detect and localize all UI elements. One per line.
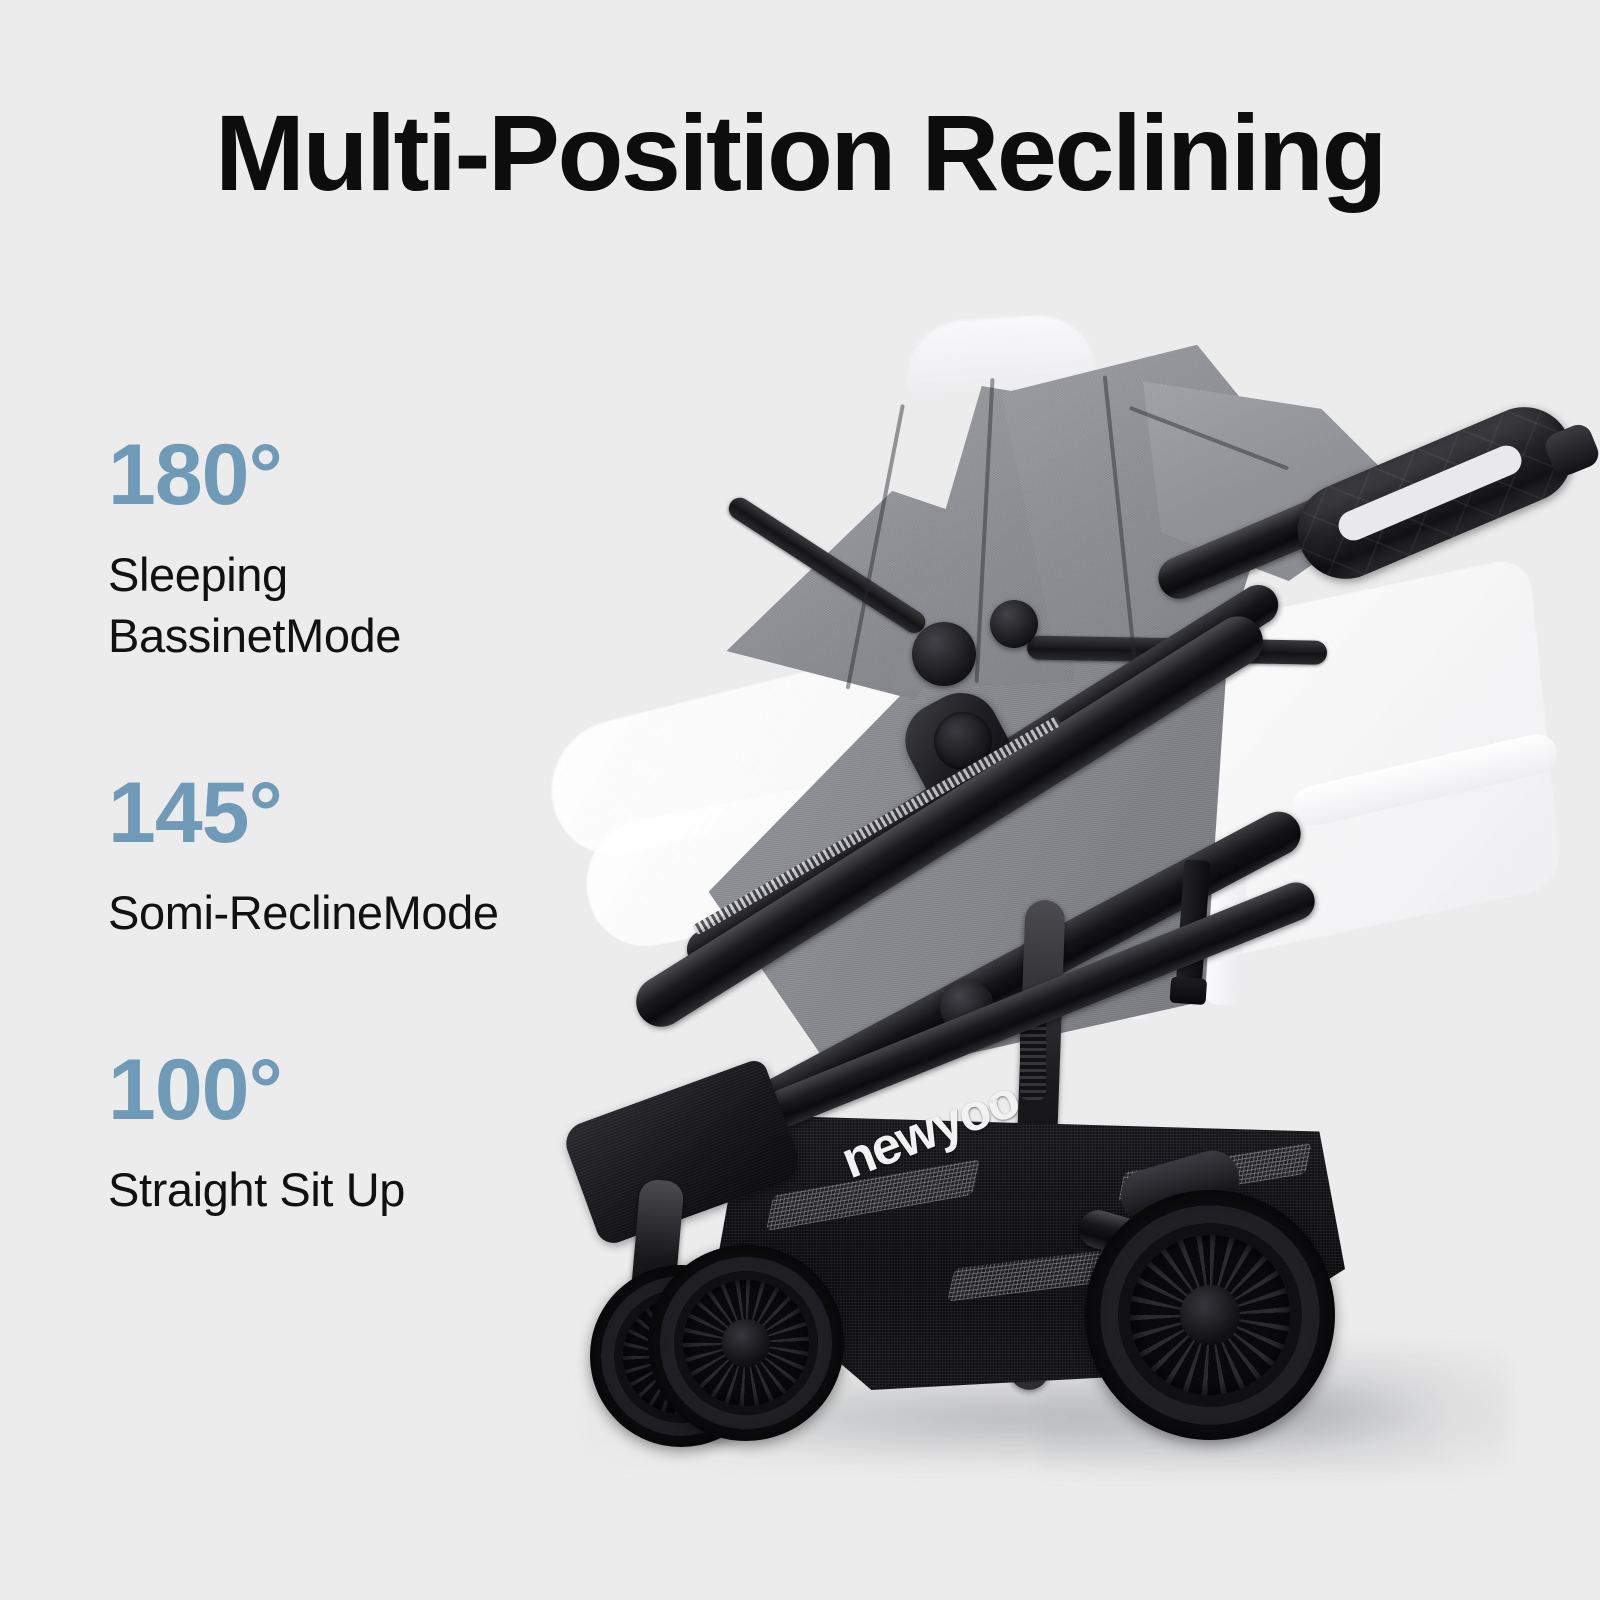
tire-tread <box>648 1245 844 1441</box>
feature-value-100: 100° <box>108 1047 538 1133</box>
feature-item-100: 100° Straight Sit Up <box>108 1047 538 1220</box>
feature-value-145: 145° <box>108 770 538 856</box>
page-title: Multi-Position Reclining <box>0 96 1600 209</box>
front-wheel <box>648 1245 844 1441</box>
feature-label-145: Somi-ReclineMode <box>108 882 538 943</box>
feature-label-100: Straight Sit Up <box>108 1159 538 1220</box>
product-image: newyoo ™ <box>520 300 1580 1530</box>
infographic-canvas: Multi-Position Reclining 180° Sleeping B… <box>0 0 1600 1600</box>
feature-item-145: 145° Somi-ReclineMode <box>108 770 538 943</box>
canopy-pivot-joint[interactable] <box>990 600 1038 648</box>
feature-value-180: 180° <box>108 432 538 518</box>
tire-tread <box>1085 1190 1335 1440</box>
feature-label-180: Sleeping BassinetMode <box>108 544 538 666</box>
feature-item-180: 180° Sleeping BassinetMode <box>108 432 538 666</box>
feature-list: 180° Sleeping BassinetMode 145° Somi-Rec… <box>108 432 538 1220</box>
rear-wheel <box>1085 1190 1335 1440</box>
canopy-pivot-joint[interactable] <box>912 622 976 686</box>
